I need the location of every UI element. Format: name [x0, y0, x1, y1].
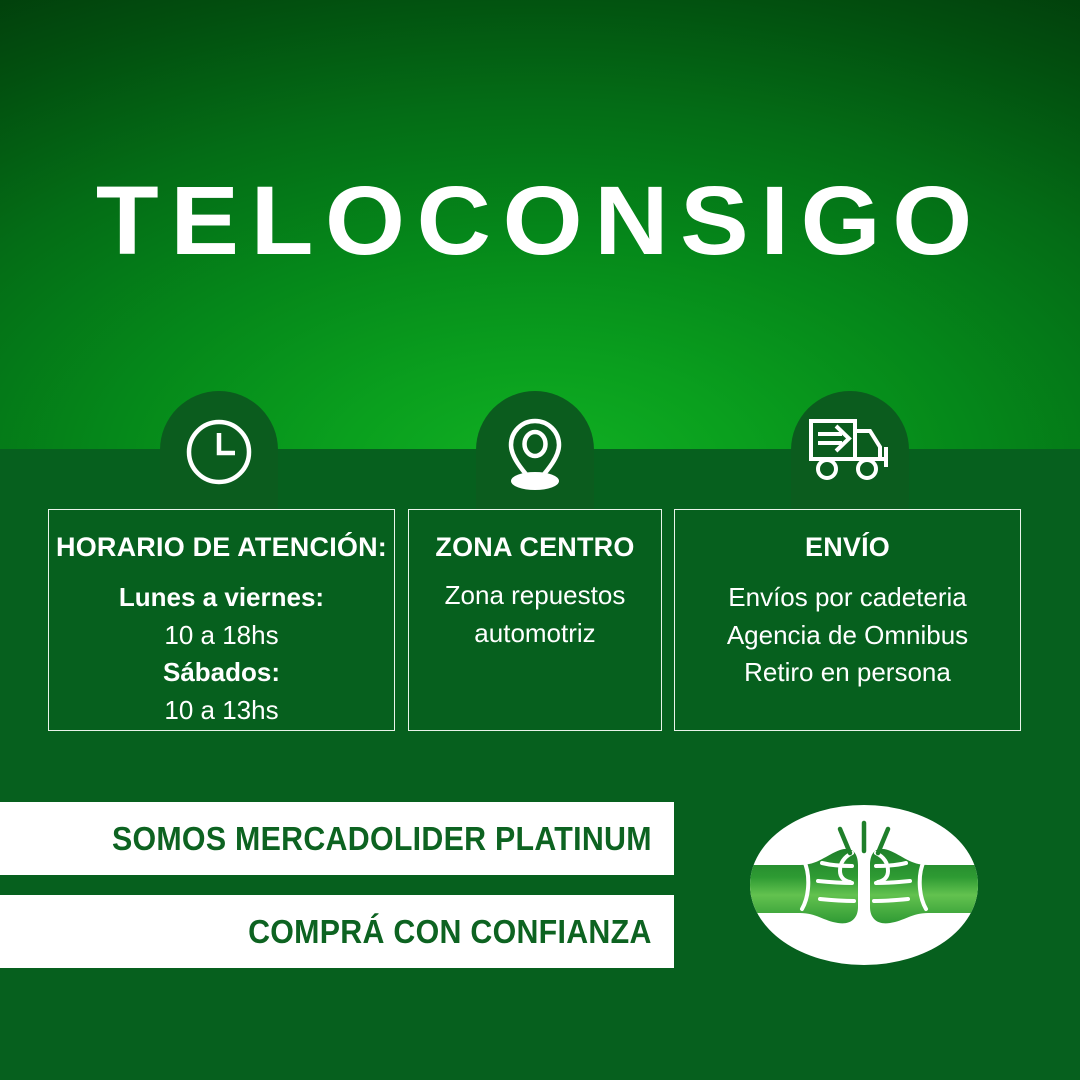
- card-horario-title: HORARIO DE ATENCIÓN:: [49, 532, 394, 563]
- promo-poster: TELOCONSIGO HORARIO DE ATE: [0, 0, 1080, 1080]
- banner-confianza: COMPRÁ CON CONFIANZA: [0, 895, 674, 968]
- fist-bump-badge: [748, 803, 980, 967]
- card-horario-line-3: Sábados:: [49, 654, 394, 692]
- card-zona-line-1: Zona repuestos: [409, 577, 661, 615]
- card-zona-title: ZONA CENTRO: [409, 532, 661, 563]
- clock-icon: [184, 417, 254, 487]
- card-zona-line-2: automotriz: [409, 615, 661, 653]
- card-horario: HORARIO DE ATENCIÓN: Lunes a viernes: 10…: [48, 509, 395, 731]
- banner-mercadolider: SOMOS MERCADOLIDER PLATINUM: [0, 802, 674, 875]
- icon-bubble-envio: [791, 391, 909, 509]
- brand-logo-text: TELOCONSIGO: [96, 172, 984, 269]
- card-envio-title: ENVÍO: [675, 532, 1020, 563]
- card-horario-line-4: 10 a 13hs: [49, 692, 394, 730]
- info-cards: HORARIO DE ATENCIÓN: Lunes a viernes: 10…: [0, 509, 1080, 731]
- banner-confianza-text: COMPRÁ CON CONFIANZA: [248, 913, 652, 951]
- card-zona: ZONA CENTRO Zona repuestos automotriz: [408, 509, 662, 731]
- card-horario-line-1: Lunes a viernes:: [49, 579, 394, 617]
- delivery-truck-icon: [808, 417, 892, 483]
- fist-bump-icon: [748, 803, 980, 967]
- card-envio-line-3: Retiro en persona: [675, 654, 1020, 692]
- card-envio-line-2: Agencia de Omnibus: [675, 617, 1020, 655]
- banner-mercadolider-text: SOMOS MERCADOLIDER PLATINUM: [112, 820, 652, 858]
- card-envio: ENVÍO Envíos por cadeteria Agencia de Om…: [674, 509, 1021, 731]
- card-horario-line-2: 10 a 18hs: [49, 617, 394, 655]
- brand-logo: TELOCONSIGO: [0, 172, 1080, 269]
- icon-bubble-horario: [160, 391, 278, 509]
- location-pin-icon: [499, 417, 571, 491]
- icon-bubble-zona: [476, 391, 594, 509]
- card-envio-line-1: Envíos por cadeteria: [675, 579, 1020, 617]
